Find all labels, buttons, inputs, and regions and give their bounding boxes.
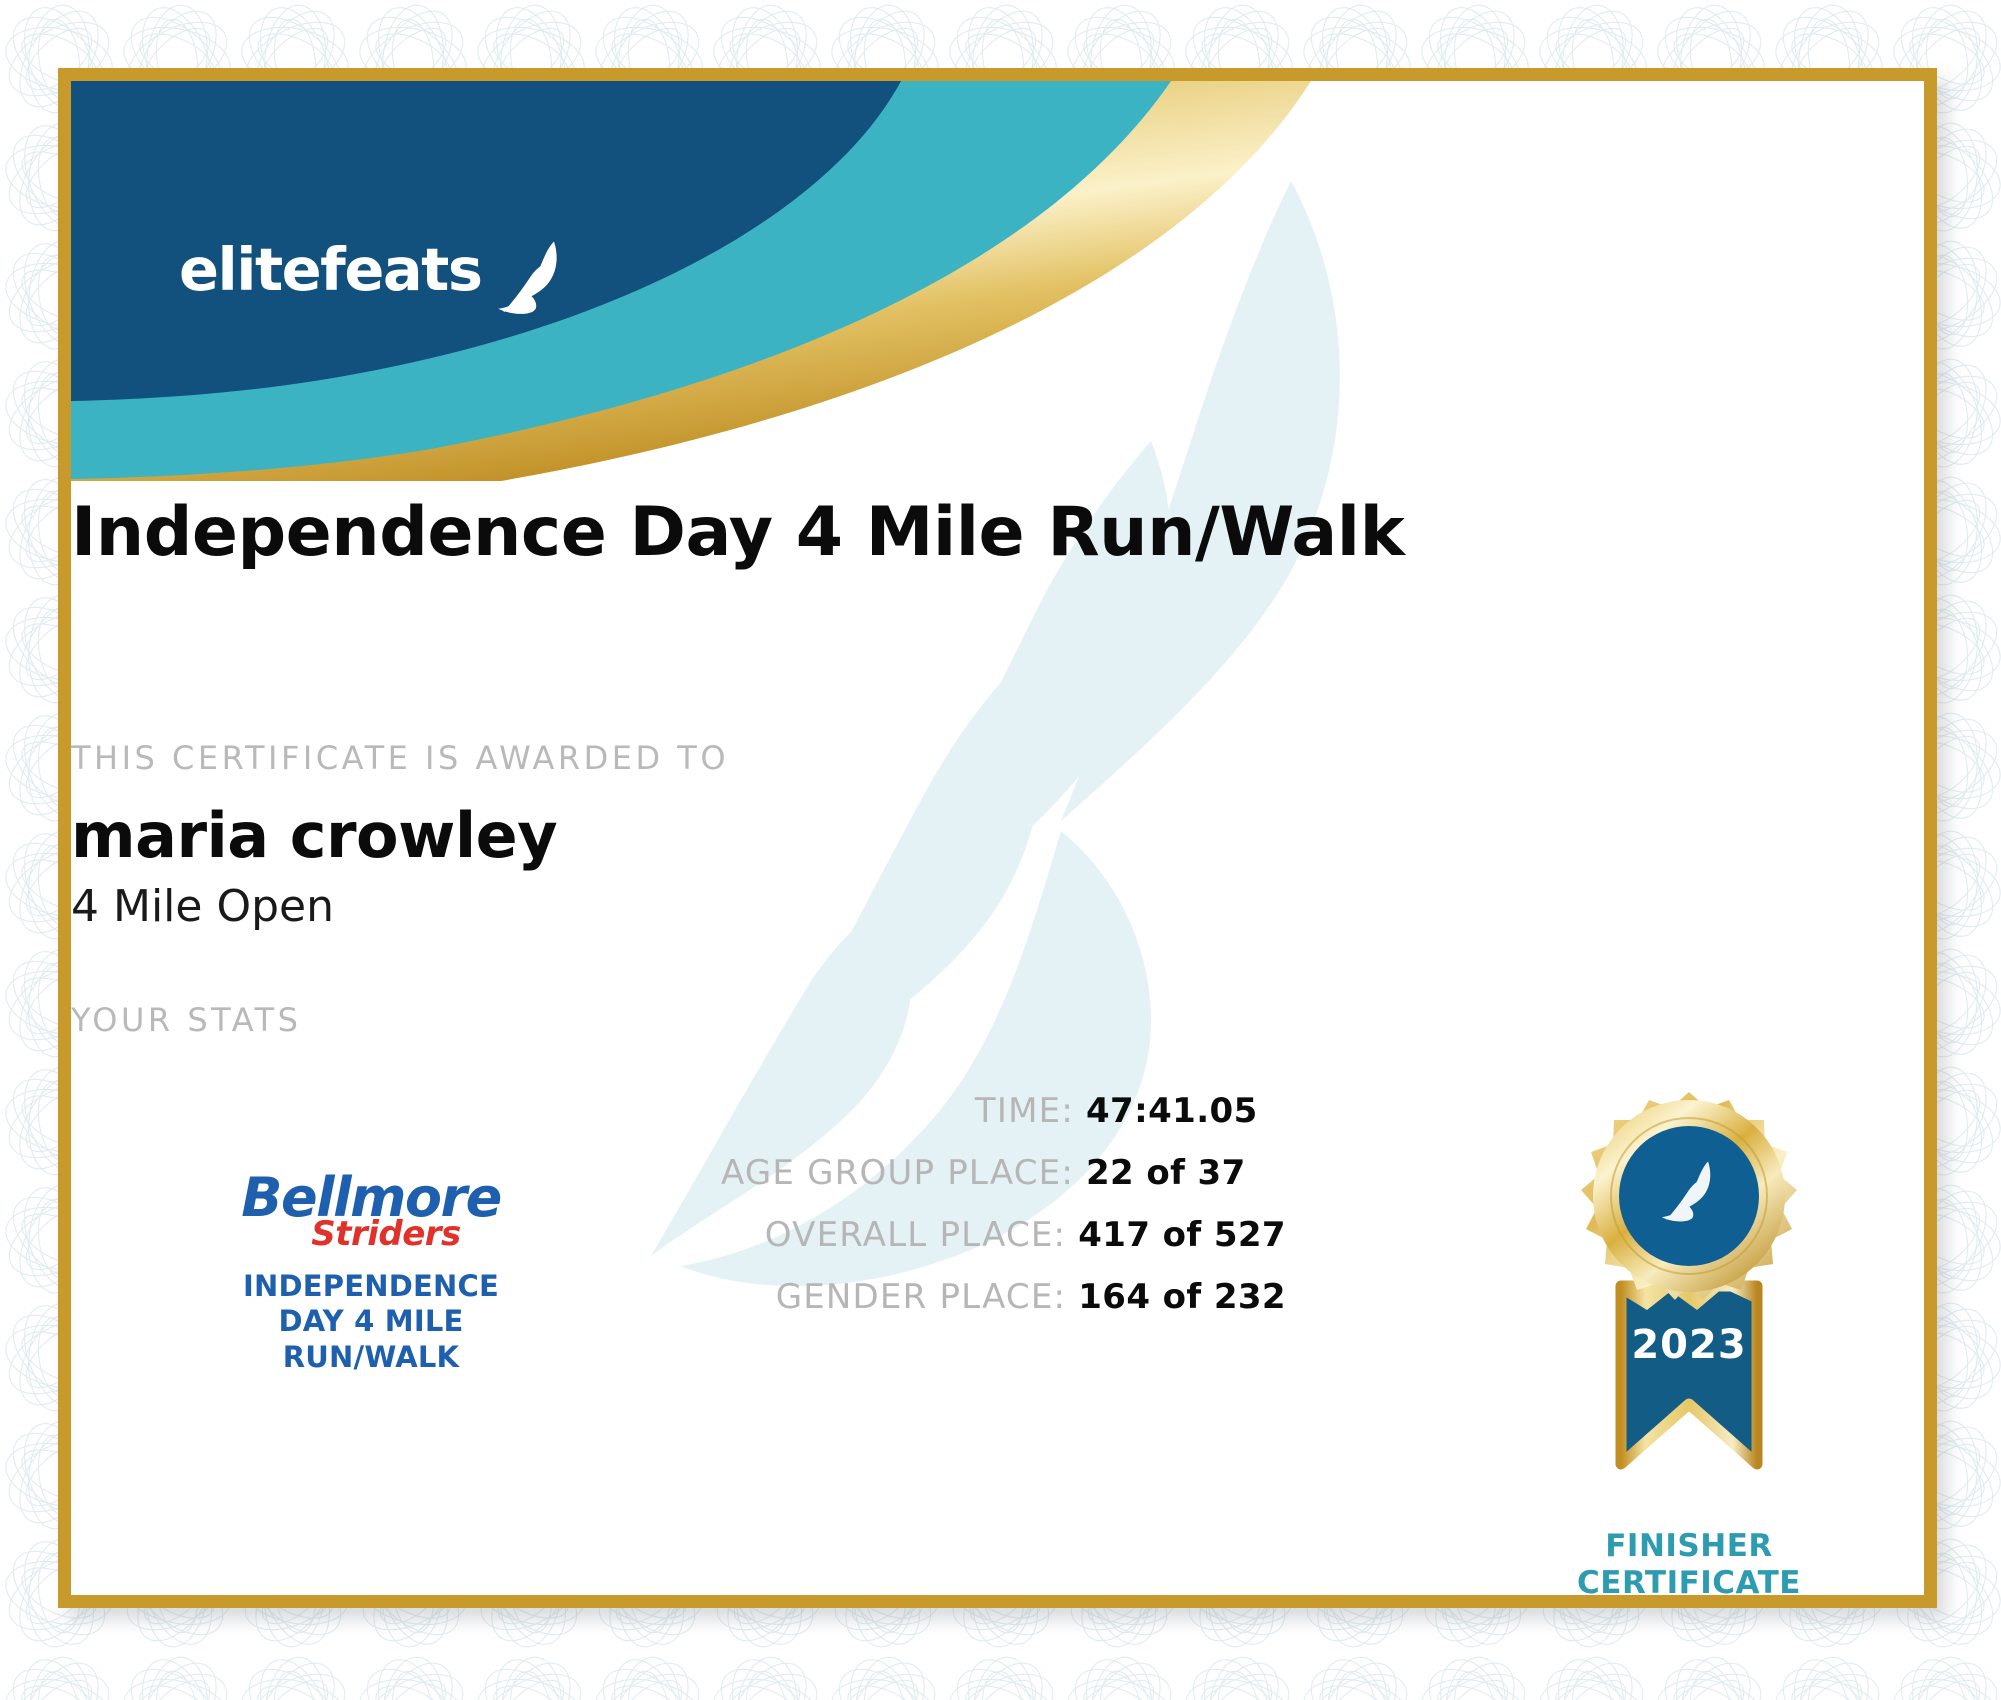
finisher-medal: 2023 FINISHER CERTIFICATE: [1549, 1086, 1829, 1595]
athlete-division: 4 Mile Open: [71, 881, 1924, 932]
your-stats-label: YOUR STATS: [71, 1001, 1924, 1039]
club-logo: Bellmore Striders INDEPENDENCE DAY 4 MIL…: [221, 1171, 521, 1375]
medal-graphic: 2023: [1559, 1086, 1819, 1536]
brand-logo: elitefeats: [179, 221, 572, 317]
stat-row-time: TIME: 47:41.05: [71, 1091, 1286, 1131]
club-event-line-2: DAY 4 MILE: [221, 1304, 521, 1339]
stat-label: AGE GROUP PLACE:: [721, 1153, 1074, 1193]
stat-label: GENDER PLACE:: [776, 1277, 1067, 1317]
certificate-page: elitefeats EVENT Independence Day 4 Mile…: [0, 0, 2001, 1700]
stat-value: 22 of 37: [1086, 1153, 1286, 1193]
stat-value: 47:41.05: [1086, 1091, 1286, 1131]
club-event-line-3: RUN/WALK: [221, 1340, 521, 1375]
medal-caption-line-1: FINISHER: [1549, 1528, 1829, 1565]
winged-foot-icon: [490, 235, 572, 317]
stat-value: 417 of 527: [1078, 1215, 1286, 1255]
event-title: Independence Day 4 Mile Run/Walk: [71, 493, 1924, 572]
club-name-primary: Bellmore: [221, 1171, 521, 1225]
medal-caption: FINISHER CERTIFICATE: [1549, 1528, 1829, 1595]
stat-value: 164 of 232: [1078, 1277, 1286, 1317]
stat-label: TIME:: [975, 1091, 1074, 1131]
brand-wordmark: elitefeats: [179, 240, 482, 299]
medal-caption-line-2: CERTIFICATE: [1549, 1565, 1829, 1595]
stat-label: OVERALL PLACE:: [765, 1215, 1066, 1255]
athlete-name: maria crowley: [71, 799, 1924, 872]
medal-year: 2023: [1631, 1322, 1746, 1368]
certificate-card: elitefeats EVENT Independence Day 4 Mile…: [58, 68, 1937, 1608]
club-event-name: INDEPENDENCE DAY 4 MILE RUN/WALK: [221, 1269, 521, 1375]
awarded-to-label: THIS CERTIFICATE IS AWARDED TO: [71, 739, 1924, 777]
club-event-line-1: INDEPENDENCE: [221, 1269, 521, 1304]
